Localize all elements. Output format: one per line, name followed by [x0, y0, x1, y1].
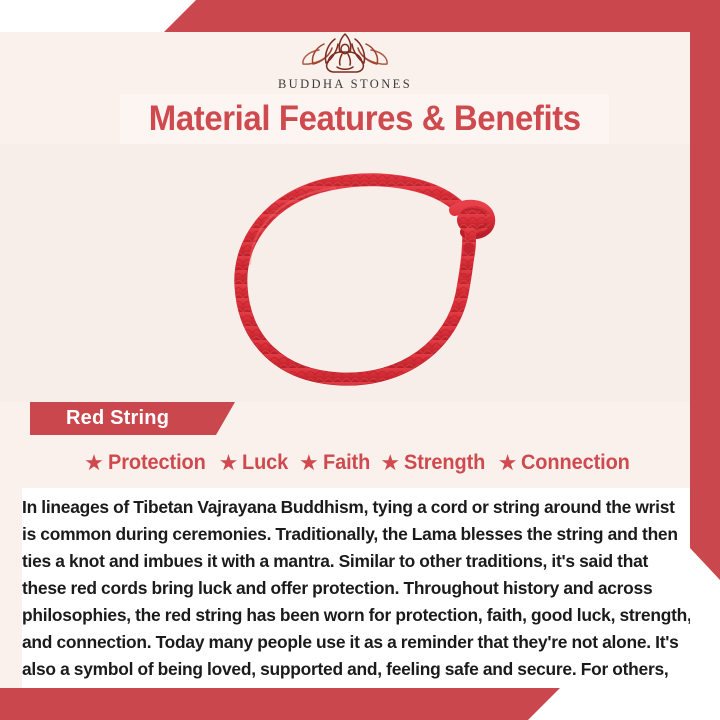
- star-icon: ★: [498, 452, 518, 474]
- benefit-item-luck: ★ Luck: [219, 451, 291, 475]
- benefit-item-connection: ★ Connection: [498, 451, 636, 475]
- benefit-label: Protection: [108, 451, 206, 475]
- infographic-card: BUDDHA STONES Material Features & Benefi…: [0, 0, 720, 720]
- page-title: Material Features & Benefits: [149, 99, 581, 139]
- product-tag: Red String: [30, 402, 235, 435]
- title-banner: Material Features & Benefits: [120, 94, 609, 144]
- product-tag-label: Red String: [66, 407, 169, 430]
- benefit-item-faith: ★ Faith: [299, 451, 372, 475]
- star-icon: ★: [84, 452, 104, 474]
- benefit-item-strength: ★ Strength: [380, 451, 489, 475]
- lotus-meditation-icon: [297, 32, 393, 76]
- benefit-item-protection: ★ Protection: [84, 451, 211, 475]
- benefit-label: Faith: [323, 451, 370, 475]
- star-icon: ★: [219, 452, 239, 474]
- product-photo: [0, 144, 690, 402]
- frame-band-top-right: [0, 0, 720, 32]
- benefit-label: Luck: [242, 451, 288, 475]
- description-block: In lineages of Tibetan Vajrayana Buddhis…: [22, 488, 690, 688]
- star-icon: ★: [299, 452, 319, 474]
- red-braided-bracelet-illustration: [0, 144, 690, 402]
- frame-band-bottom-left: [0, 688, 720, 720]
- description-paragraph: In lineages of Tibetan Vajrayana Buddhis…: [22, 494, 690, 688]
- frame-band-right: [690, 0, 720, 580]
- brand-logo: BUDDHA STONES: [0, 32, 690, 94]
- card-body: BUDDHA STONES Material Features & Benefi…: [0, 32, 690, 688]
- brand-wordmark: BUDDHA STONES: [278, 77, 412, 92]
- benefits-list: ★ Protection ★ Luck ★ Faith ★ Strength ★…: [30, 444, 690, 482]
- benefit-label: Strength: [404, 451, 485, 475]
- star-icon: ★: [380, 452, 400, 474]
- benefit-label: Connection: [521, 451, 630, 475]
